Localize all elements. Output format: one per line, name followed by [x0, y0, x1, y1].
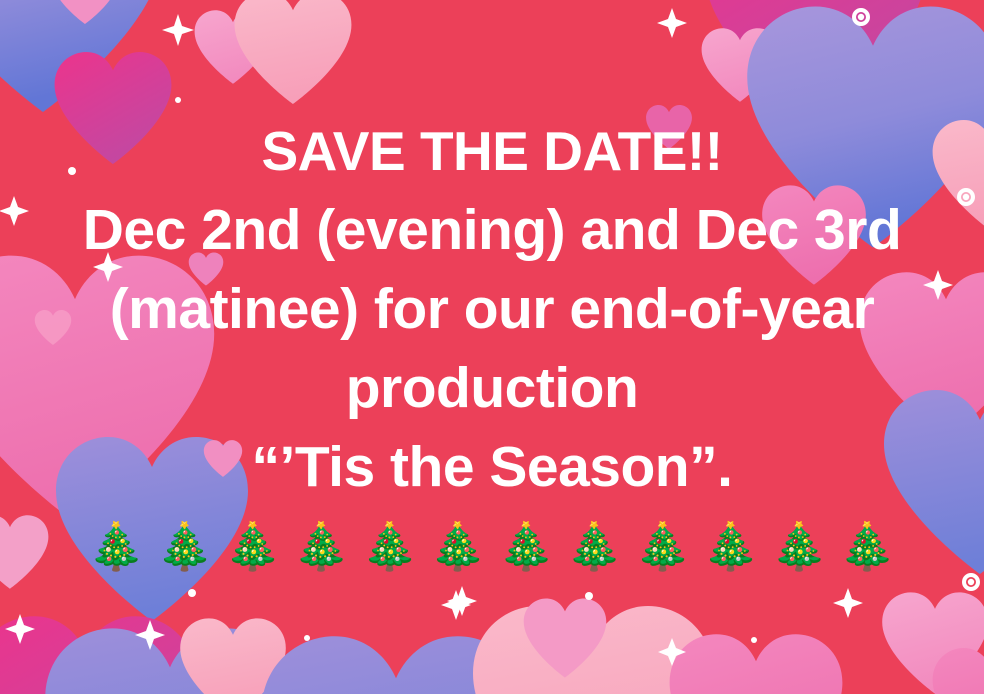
- heart-bottom-pink-pale-a: [180, 618, 286, 694]
- christmas-tree-icon: 🎄: [156, 516, 224, 576]
- heart-top-left-small-pink: [52, 0, 119, 24]
- announcement-text-block: SAVE THE DATE!! Dec 2nd (evening) and De…: [0, 112, 984, 507]
- headline-line-3: (matinee) for our end-of-year: [22, 270, 962, 349]
- heart-top-center-pink-pale: [235, 0, 352, 104]
- heart-top-right-magenta: [705, 0, 926, 122]
- heart-top-right-pink-small: [702, 28, 779, 102]
- christmas-tree-icon: 🎄: [702, 516, 770, 576]
- headline-line-1: SAVE THE DATE!!: [22, 112, 962, 191]
- sparkle-icon: [447, 586, 477, 616]
- sparkle-icon: [5, 614, 35, 644]
- heart-bottom-far-right: [933, 648, 984, 694]
- christmas-tree-icon: 🎄: [839, 516, 907, 576]
- christmas-tree-icon: 🎄: [361, 516, 429, 576]
- christmas-tree-icon: 🎄: [634, 516, 702, 576]
- christmas-tree-icon: 🎄: [498, 516, 566, 576]
- heart-bottom-magenta: [0, 616, 195, 694]
- christmas-tree-row: 🎄🎄🎄🎄🎄🎄🎄🎄🎄🎄🎄🎄: [0, 516, 984, 576]
- heart-bottom-right-pink: [882, 592, 984, 693]
- headline-line-2: Dec 2nd (evening) and Dec 3rd: [22, 191, 962, 270]
- christmas-tree-icon: 🎄: [88, 516, 156, 576]
- heart-bottom-pink-mid: [670, 634, 843, 694]
- sparkle-icon: [833, 588, 863, 618]
- heart-bottom-purple-left: [45, 628, 295, 694]
- heart-top-center-pink-small: [195, 10, 272, 84]
- sparkle-icon: [657, 8, 687, 38]
- christmas-tree-icon: 🎄: [429, 516, 497, 576]
- sparkle-icon: [135, 620, 165, 650]
- headline-line-4: production: [22, 349, 962, 428]
- christmas-tree-icon: 🎄: [771, 516, 839, 576]
- sparkle-icon: [441, 590, 471, 620]
- christmas-tree-icon: 🎄: [566, 516, 634, 576]
- heart-bottom-purple-center: [262, 636, 531, 694]
- sparkle-icon: [162, 14, 194, 46]
- christmas-tree-icon: 🎄: [224, 516, 292, 576]
- heart-bottom-small-pink-left: [524, 598, 607, 677]
- headline-line-5: “’Tis the Season”.: [22, 428, 962, 507]
- christmas-tree-icon: 🎄: [293, 516, 361, 576]
- save-the-date-poster: SAVE THE DATE!! Dec 2nd (evening) and De…: [0, 0, 984, 694]
- heart-bottom-pink-pale-b: [473, 606, 713, 694]
- heart-top-left-purple: [0, 0, 163, 112]
- sparkle-icon: [658, 638, 686, 666]
